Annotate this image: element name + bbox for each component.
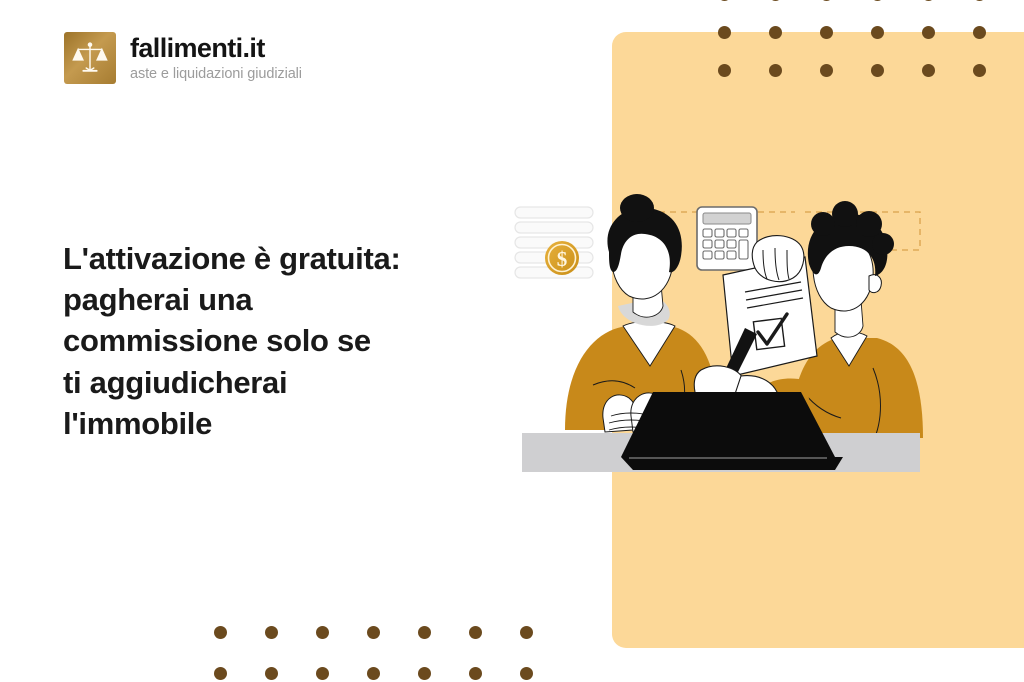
dot [718,26,731,39]
dot [871,0,884,1]
dot-grid-bottom-left [214,626,571,682]
dot [469,626,482,639]
dot [769,64,782,77]
logo-text-block: fallimenti.it aste e liquidazioni giudiz… [130,35,302,82]
dot [871,26,884,39]
dot [265,667,278,680]
dot [520,667,533,680]
dot [214,626,227,639]
dot [718,64,731,77]
hero-illustration: $ [505,180,935,480]
dot [922,64,935,77]
dot [418,667,431,680]
dot [316,667,329,680]
dot [469,667,482,680]
dot [973,0,986,1]
dot [367,667,380,680]
dot [769,0,782,1]
dot [922,0,935,1]
brand-logo[interactable]: fallimenti.it aste e liquidazioni giudiz… [64,32,302,84]
dot [316,626,329,639]
scales-of-justice-icon [64,32,116,84]
dot [820,64,833,77]
logo-subtitle: aste e liquidazioni giudiziali [130,67,302,82]
poster-canvas: fallimenti.it aste e liquidazioni giudiz… [0,0,1024,682]
dot [973,64,986,77]
dot [820,26,833,39]
dot [418,626,431,639]
dot [214,667,227,680]
dot [922,26,935,39]
calculator-icon [697,207,757,270]
dollar-coin: $ [545,241,579,275]
dot [973,26,986,39]
page-title: L'attivazione è gratuita: pagherai una c… [63,238,483,444]
dot [820,0,833,1]
dot [265,626,278,639]
dot [520,626,533,639]
dot [769,26,782,39]
dot [871,64,884,77]
dot [367,626,380,639]
hand-holding-document [752,236,804,282]
dot-grid-top-right [718,0,1024,102]
dot [718,0,731,1]
logo-title: fallimenti.it [130,35,302,62]
svg-text:$: $ [557,247,568,271]
